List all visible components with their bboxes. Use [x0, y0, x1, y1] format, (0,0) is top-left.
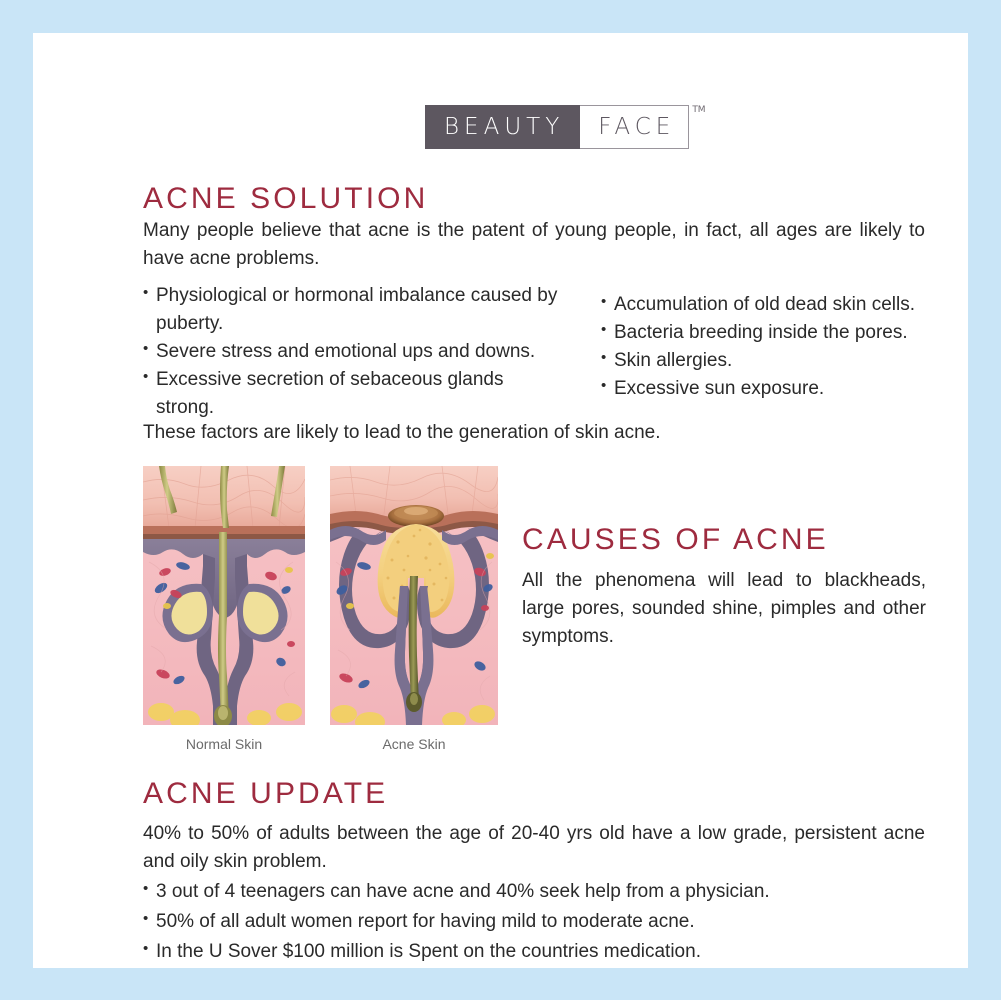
figure-normal-skin: Normal Skin	[143, 466, 305, 752]
causes-list-left: Physiological or hormonal imbalance caus…	[143, 282, 563, 423]
list-item: 50% of all adult women report for having…	[143, 908, 933, 936]
causes-list-right: Accumulation of old dead skin cells. Bac…	[601, 291, 931, 403]
trademark-symbol: TM	[692, 106, 705, 115]
list-item: Bacteria breeding inside the pores.	[601, 319, 931, 347]
normal-skin-svg	[143, 466, 305, 725]
acne-update-intro: 40% to 50% of adults between the age of …	[143, 820, 925, 876]
normal-skin-illustration	[143, 466, 305, 725]
causes-of-acne-heading: CAUSES OF ACNE	[522, 523, 829, 556]
list-item: Excessive sun exposure.	[601, 375, 931, 403]
list-item: Accumulation of old dead skin cells.	[601, 291, 931, 319]
list-item: 3 out of 4 teenagers can have acne and 4…	[143, 878, 933, 906]
list-item: In the U Sover $100 million is Spent on …	[143, 938, 933, 966]
logo-word-beauty: BEAUTY	[425, 105, 580, 149]
acne-update-heading: ACNE UPDATE	[143, 777, 388, 810]
figure-caption-acne-skin: Acne Skin	[330, 736, 498, 752]
white-panel: BEAUTY FACE TM ACNE SOLUTION Many people…	[33, 33, 968, 968]
figure-caption-normal-skin: Normal Skin	[143, 736, 305, 752]
logo-word-face: FACE	[580, 105, 689, 149]
acne-update-list: 3 out of 4 teenagers can have acne and 4…	[143, 878, 933, 968]
list-item: Physiological or hormonal imbalance caus…	[143, 282, 563, 338]
acne-skin-illustration	[330, 466, 498, 725]
acne-solution-intro: Many people believe that acne is the pat…	[143, 217, 925, 273]
acne-skin-svg	[330, 466, 498, 725]
poster-root: BEAUTY FACE TM ACNE SOLUTION Many people…	[0, 0, 1001, 1000]
list-item: Skin allergies.	[601, 347, 931, 375]
acne-solution-closing: These factors are likely to lead to the …	[143, 419, 925, 447]
list-item: Excessive secretion of sebaceous glands …	[143, 366, 563, 422]
list-item: Severe stress and emotional ups and down…	[143, 338, 563, 366]
figure-acne-skin: Acne Skin	[330, 466, 498, 752]
brand-logo: BEAUTY FACE TM	[425, 105, 706, 149]
causes-of-acne-body: All the phenomena will lead to blackhead…	[522, 567, 926, 651]
acne-solution-heading: ACNE SOLUTION	[143, 182, 428, 215]
